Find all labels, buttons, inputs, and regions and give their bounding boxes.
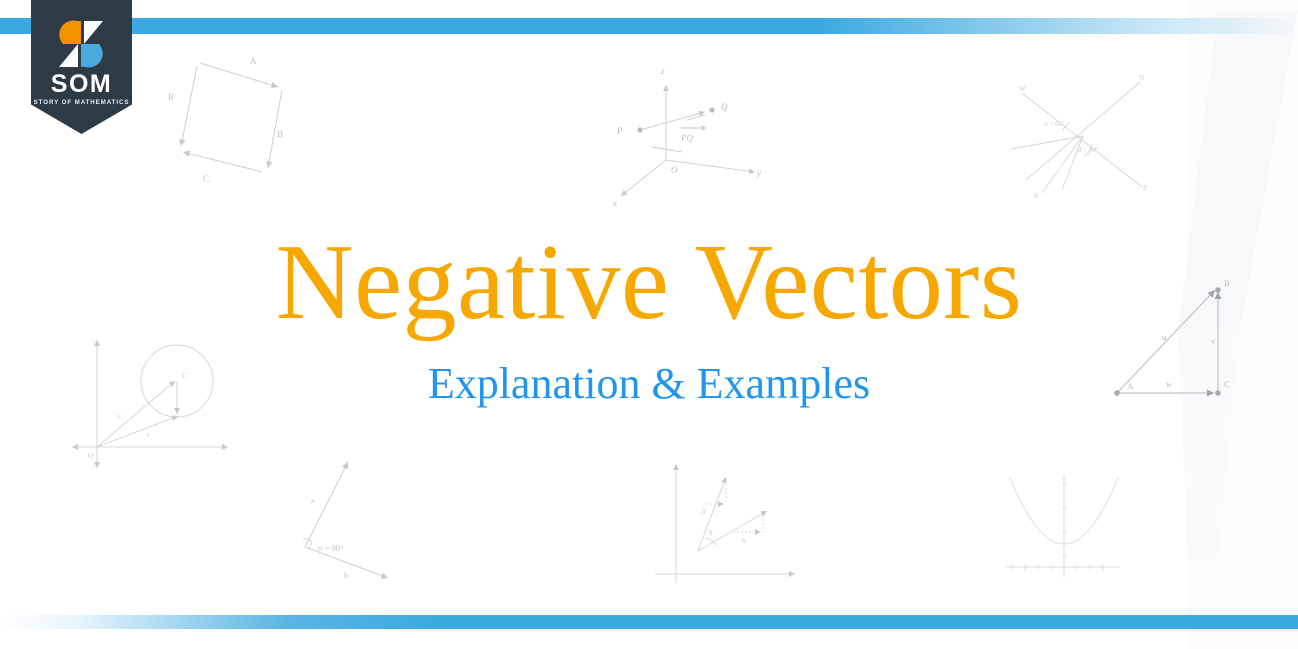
quad-label-b: B [277, 129, 283, 139]
slide-canvas: A B C R z y x O P Q PQ [0, 0, 1298, 649]
perp-label-b: b [344, 570, 348, 580]
perp-label-a: a [311, 495, 315, 505]
som-wordmark: SOM [31, 72, 132, 97]
headline-block: Negative Vectors Explanation & Examples [0, 0, 1298, 649]
theta-label-a: a [702, 506, 706, 515]
diagram-3d-axes [621, 85, 755, 196]
diagram-parabola [1005, 476, 1120, 577]
theta-label-theta: θ [709, 528, 713, 537]
quad-label-a: A [250, 56, 257, 66]
triangle-label-w: w [1166, 379, 1173, 389]
circle-label-o: O [88, 451, 94, 460]
quad-label-r: R [168, 92, 174, 102]
diagram-theta-vectors [655, 464, 795, 583]
theta-label-b: b [742, 536, 746, 545]
compass-label-beta: β = 60° [1078, 146, 1099, 154]
axes-label-q: Q [721, 102, 728, 112]
diagram-right-triangle [1117, 290, 1218, 393]
top-accent-bar [0, 18, 1298, 34]
triangle-label-a: A [1127, 381, 1134, 391]
quad-label-c: C [203, 174, 209, 184]
compass-label-w: W [1019, 85, 1026, 93]
compass-label-alpha: α = 65° [1044, 120, 1065, 128]
triangle-label-b: B [1224, 278, 1230, 288]
page-title: Negative Vectors [0, 226, 1298, 339]
compass-label-s: S [1034, 192, 1038, 200]
som-logo-icon [53, 18, 109, 70]
page-subtitle: Explanation & Examples [0, 358, 1298, 409]
circle-label-r: r [147, 430, 150, 439]
bottom-accent-bar [0, 615, 1298, 629]
axes-label-z: z [660, 66, 665, 76]
axes-label-p: P [616, 126, 623, 136]
compass-label-e: E [1143, 184, 1147, 192]
axes-label-o: O [671, 165, 678, 175]
background-watermark [1068, 0, 1298, 649]
point-p-dot [637, 127, 642, 132]
compass-label-n: N [1139, 74, 1144, 82]
diagram-circle-vectors [72, 340, 228, 468]
background-math-diagrams: A B C R z y x O P Q PQ [0, 0, 1298, 649]
circle-label-center: C [182, 371, 187, 380]
axes-label-y: y [756, 168, 761, 178]
triangle-label-u: u [1162, 332, 1167, 342]
pq-arrow-overline [681, 126, 705, 131]
diagram-perpendicular [303, 462, 388, 578]
triangle-label-v: v [1211, 336, 1216, 346]
circle-label-c: c [118, 411, 122, 420]
triangle-label-c: C [1224, 379, 1230, 389]
diagram-quadrilateral [181, 63, 282, 172]
som-logo-badge[interactable]: SOM STORY OF MATHEMATICS [31, 0, 132, 134]
axes-label-x: x [612, 198, 617, 208]
perp-label-angle: α = 90° [318, 543, 343, 553]
point-q-dot [709, 107, 714, 112]
som-tagline: STORY OF MATHEMATICS [31, 99, 132, 106]
axes-label-pq: PQ [680, 133, 693, 143]
diagram-compass [1012, 82, 1142, 193]
